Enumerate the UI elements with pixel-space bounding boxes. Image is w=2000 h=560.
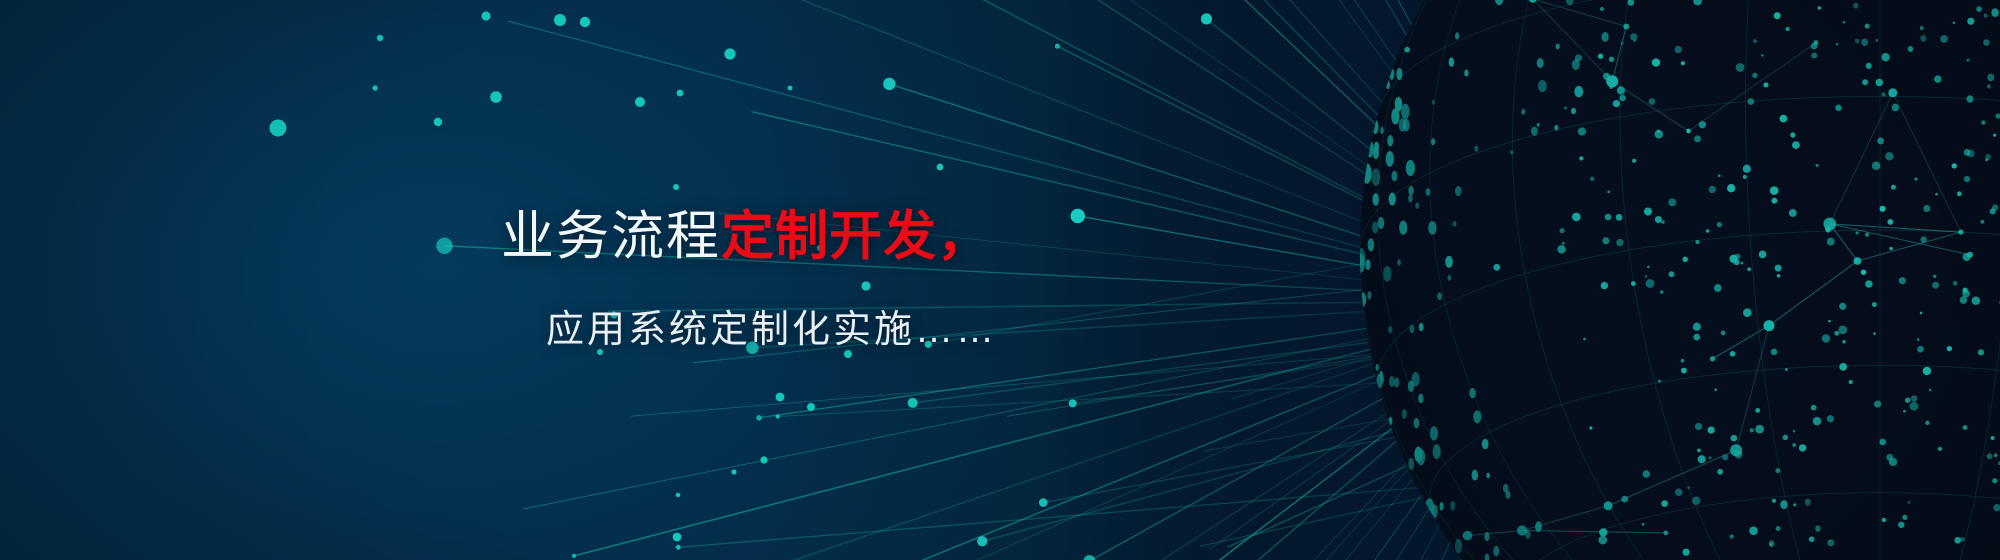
banner-copy: 业务流程定制开发， 应用系统定制化实施…… (0, 0, 1050, 560)
headline-comma: ， (937, 207, 992, 266)
headline-highlight: 定制开发 (721, 207, 937, 266)
page-title: 业务流程定制开发， (501, 207, 992, 266)
hero-banner: 业务流程定制开发， 应用系统定制化实施…… (0, 0, 2000, 560)
headline-lead: 业务流程 (501, 207, 721, 266)
page-subtitle: 应用系统定制化实施…… (546, 298, 997, 353)
